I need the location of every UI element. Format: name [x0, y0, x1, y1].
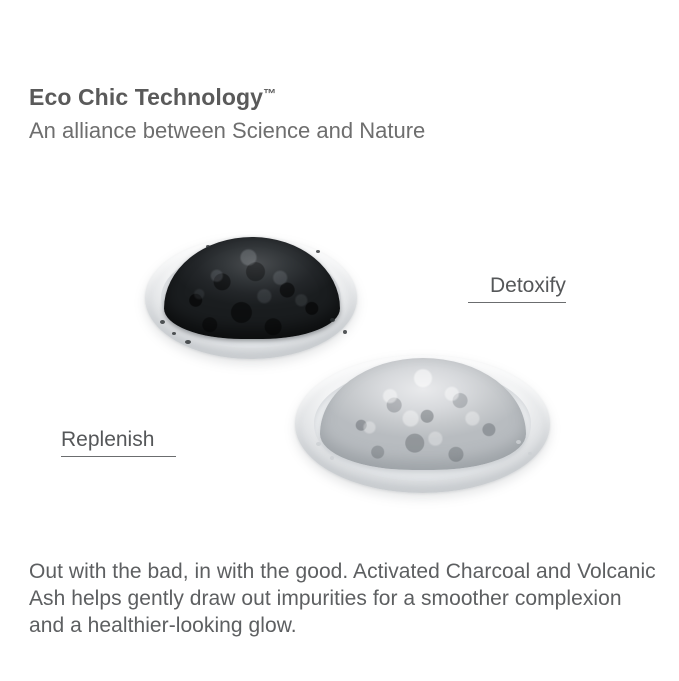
- charcoal-speck: [160, 320, 165, 324]
- imagery-stage: [0, 190, 679, 530]
- ash-speck: [330, 456, 334, 460]
- page-title-text: Eco Chic Technology: [29, 84, 263, 110]
- page-subtitle: An alliance between Science and Nature: [29, 117, 649, 145]
- charcoal-speck: [316, 250, 320, 253]
- product-info-panel: Eco Chic Technology™ An alliance between…: [0, 0, 679, 681]
- ash-speck: [516, 440, 521, 444]
- callout-replenish: Replenish: [61, 427, 176, 457]
- charcoal-speck: [185, 340, 191, 344]
- heading-block: Eco Chic Technology™ An alliance between…: [29, 80, 649, 145]
- page-title: Eco Chic Technology™: [29, 80, 649, 111]
- trademark-symbol: ™: [263, 86, 276, 101]
- body-paragraph: Out with the bad, in with the good. Acti…: [29, 558, 659, 639]
- charcoal-speck: [330, 318, 335, 322]
- callout-detoxify: Detoxify: [468, 273, 566, 303]
- ash-speck: [528, 452, 532, 455]
- charcoal-speck: [206, 245, 210, 248]
- ash-speck: [316, 442, 321, 446]
- charcoal-speck: [343, 330, 347, 334]
- charcoal-speck: [172, 332, 176, 335]
